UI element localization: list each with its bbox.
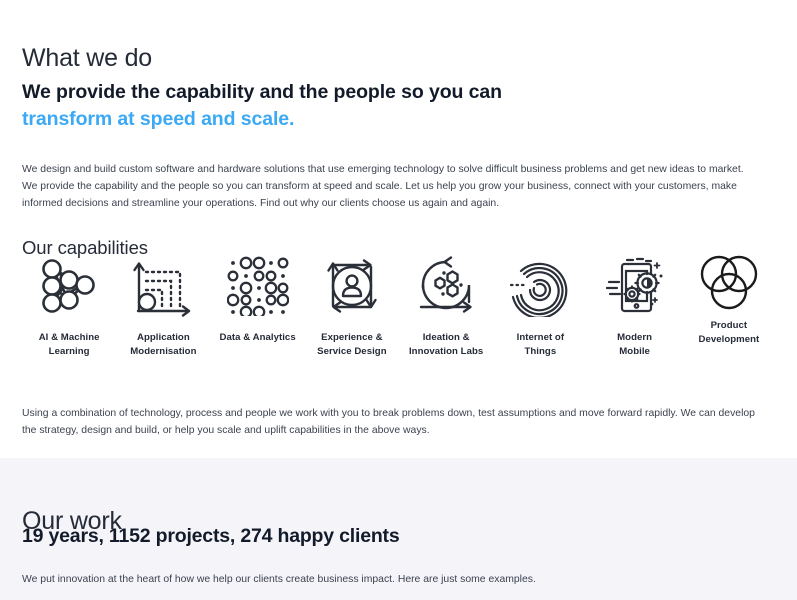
dotted-path-chart-icon [130, 250, 196, 322]
capability-label: Internet of Things [517, 331, 564, 359]
capability-item-application-modernisation[interactable]: Application Modernisation [116, 250, 210, 359]
capability-label: Modern Mobile [617, 331, 652, 359]
lead-line-2-accent: transform at speed and scale. [22, 106, 762, 133]
user-cycle-icon [319, 250, 385, 322]
capability-label: AI & Machine Learning [39, 331, 100, 359]
capability-item-experience-service-design[interactable]: Experience & Service Design [305, 250, 399, 359]
capability-label: Data & Analytics [220, 331, 296, 345]
capability-item-data-analytics[interactable]: Data & Analytics [211, 250, 305, 345]
lead-line-1: We provide the capability and the people… [22, 81, 502, 103]
our-work-stats: 19 years, 1152 projects, 274 happy clien… [22, 525, 400, 548]
mobile-gears-icon [602, 250, 668, 322]
capability-label: Product Development [698, 319, 759, 347]
capability-item-modern-mobile[interactable]: Modern Mobile [588, 250, 682, 359]
capability-item-product-development[interactable]: Product Development [682, 250, 776, 347]
our-work-paragraph: We put innovation at the heart of how we… [22, 572, 752, 589]
lead-statement: We provide the capability and the people… [22, 79, 762, 133]
capability-label: Experience & Service Design [317, 331, 387, 359]
capability-item-ai-machine-learning[interactable]: AI & Machine Learning [22, 250, 116, 359]
capability-label: Ideation & Innovation Labs [409, 331, 483, 359]
our-work-section: Our work 19 years, 1152 projects, 274 ha… [0, 458, 797, 600]
dot-grid-icon [227, 250, 289, 322]
page-title: What we do [22, 45, 152, 73]
capability-label: Application Modernisation [130, 331, 196, 359]
capability-item-ideation-innovation-labs[interactable]: Ideation & Innovation Labs [399, 250, 493, 359]
capability-item-internet-of-things[interactable]: Internet of Things [493, 250, 587, 359]
signal-arcs-icon [508, 250, 572, 322]
capabilities-grid: AI & Machine Learning Application Modern… [22, 250, 776, 359]
venn-circles-icon [696, 250, 762, 314]
intro-paragraph: We design and build custom software and … [22, 162, 752, 213]
capabilities-paragraph: Using a combination of technology, proce… [22, 406, 764, 440]
hexagon-cycle-icon [413, 250, 479, 322]
neural-network-icon [36, 250, 102, 322]
page-root: What we do We provide the capability and… [0, 0, 797, 600]
